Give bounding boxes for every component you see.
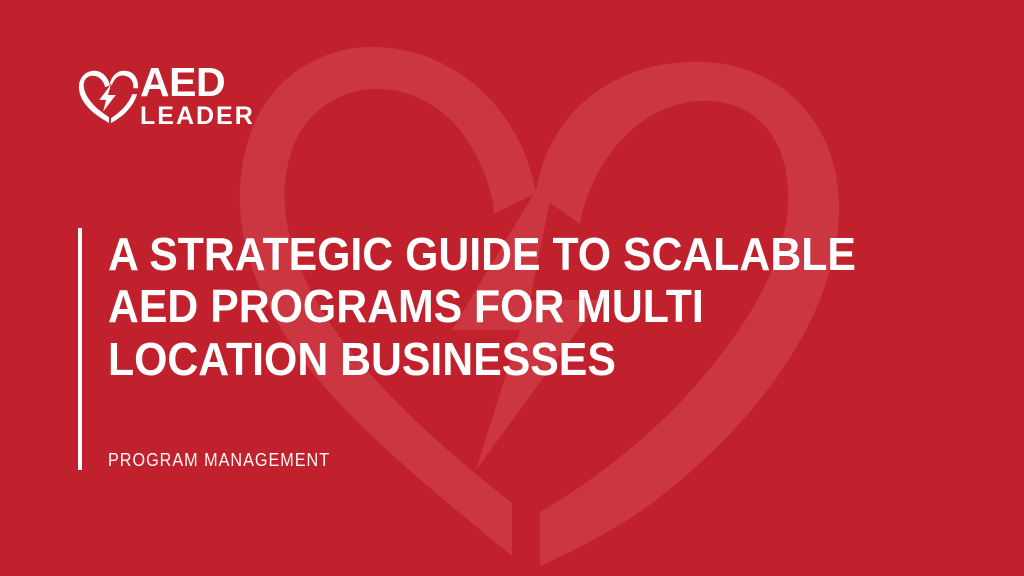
- logo[interactable]: AED LEADER: [78, 64, 255, 129]
- category-label: PROGRAM MANAGEMENT: [108, 450, 330, 471]
- logo-primary-word: AED: [140, 64, 255, 102]
- headline-block: A STRATEGIC GUIDE TO SCALABLE AED PROGRA…: [108, 228, 968, 385]
- logo-wordmark: AED LEADER: [140, 64, 255, 129]
- accent-rule: [78, 228, 82, 470]
- title-slide: AED LEADER A STRATEGIC GUIDE TO SCALABLE…: [0, 0, 1024, 576]
- page-title: A STRATEGIC GUIDE TO SCALABLE AED PROGRA…: [108, 228, 908, 385]
- heart-lightning-bolt-icon: [78, 67, 140, 125]
- logo-secondary-word: LEADER: [140, 103, 255, 129]
